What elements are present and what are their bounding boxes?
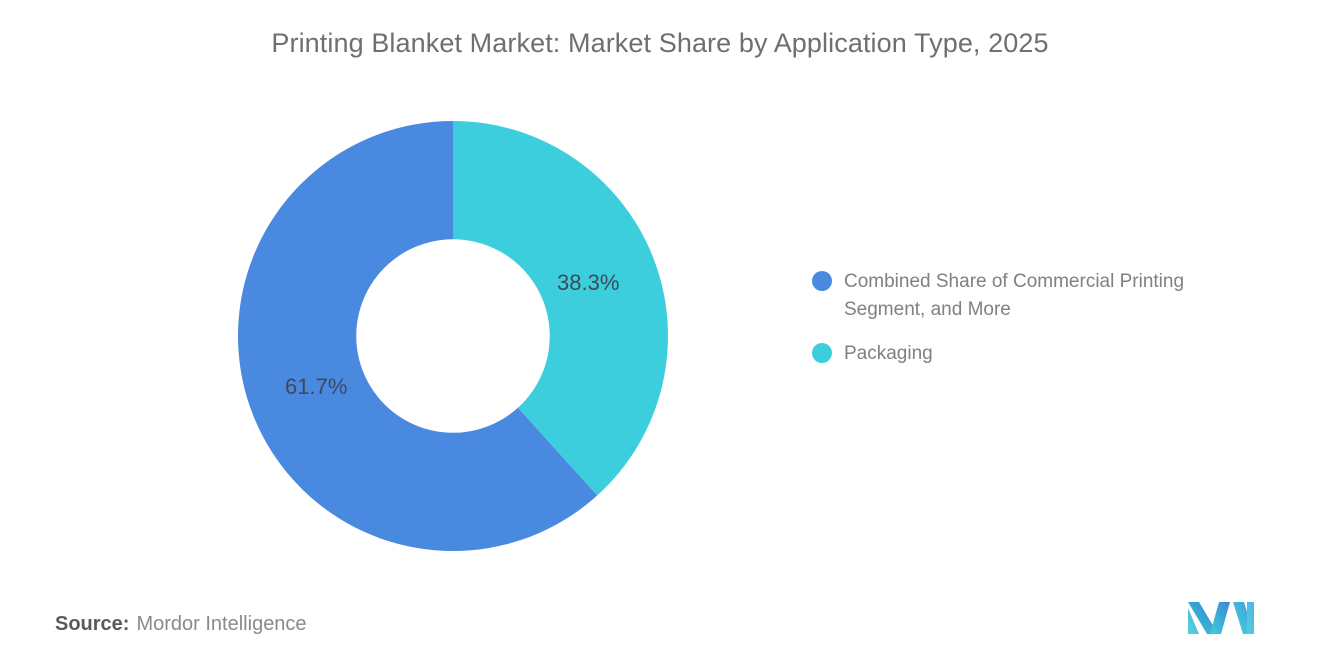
donut-chart: 61.7% 38.3%: [237, 120, 669, 552]
legend-color-swatch-icon: [812, 343, 832, 363]
legend-item-0[interactable]: Combined Share of Commercial Printing Se…: [812, 268, 1282, 324]
legend-item-1[interactable]: Packaging: [812, 340, 1282, 368]
chart-title: Printing Blanket Market: Market Share by…: [0, 28, 1320, 59]
slice-data-label-0: 61.7%: [285, 374, 347, 400]
source-name: Mordor Intelligence: [136, 613, 306, 635]
legend-item-label: Combined Share of Commercial Printing Se…: [844, 268, 1269, 324]
source-attribution: Source:Mordor Intelligence: [55, 613, 307, 636]
source-label: Source:: [55, 613, 129, 635]
slice-data-label-1: 38.3%: [557, 270, 619, 296]
mordor-intelligence-logo-icon: [1186, 598, 1256, 636]
chart-legend: Combined Share of Commercial Printing Se…: [812, 268, 1282, 384]
donut-chart-svg: [237, 120, 669, 552]
chart-container: Printing Blanket Market: Market Share by…: [0, 0, 1320, 665]
legend-color-swatch-icon: [812, 271, 832, 291]
legend-item-label: Packaging: [844, 340, 933, 368]
